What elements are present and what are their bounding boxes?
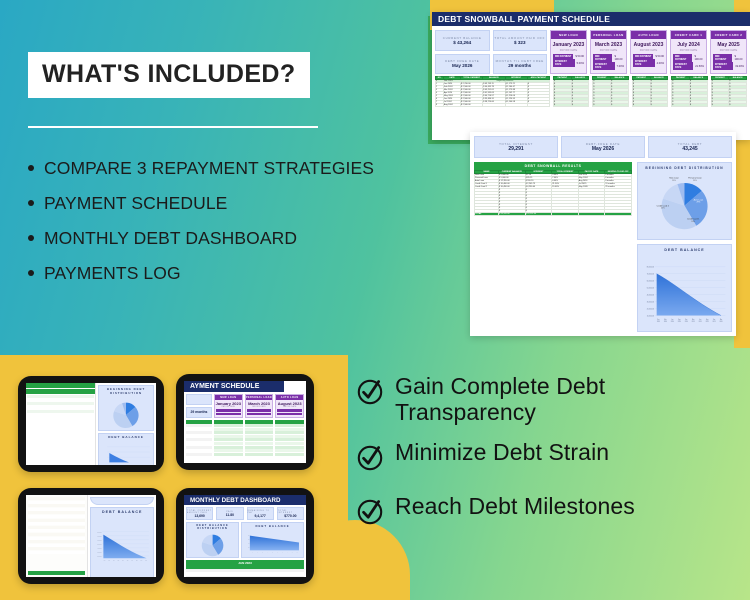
bullet-icon [28,235,34,241]
list-item [214,428,243,431]
list-item [186,453,212,456]
interest-rate-value: 4.00% [657,62,664,65]
kpi-card: REMAINING TO PAY 9,4,177 [247,507,274,520]
list-item [245,435,274,438]
kpi-card [186,394,212,405]
kpi-value: 9,4,177 [254,514,265,518]
svg-text:2024: 2024 [671,321,674,323]
kpi-card: CURRENT BALANCE $ 43,264 [435,30,490,51]
svg-text:O: O [297,552,298,554]
svg-text:20,000.00: 20,000.00 [647,308,654,310]
table-row: $$ [554,104,589,107]
min-payment-value: $ 100.00 [734,55,744,61]
list-item [245,431,274,434]
loan-sub-label: PAYOFF DATE [276,406,303,408]
sheet-title: MONTHLY DEBT DASHBOARD [184,495,306,505]
list-item [245,442,274,445]
cell-addl-payment [527,104,549,107]
cell-total-payment: $ 2,500.00 [461,104,483,107]
svg-text:Dec: Dec [685,319,688,321]
benefit-label: Reach Debt Milestones [395,494,635,520]
check-circle-icon [356,377,384,410]
svg-text:Mar: Mar [109,560,111,562]
kpi-value: 13,690 [194,514,204,518]
loan-interest-row: INTEREST RATE19.00% [711,62,746,70]
loan-interest-row: INTEREST RATE21.50% [671,62,706,70]
payment-schedule-sheet: DEBT SNOWBALL PAYMENT SCHEDULE CURRENT B… [432,12,750,140]
kpi-grid: CURRENT BALANCE $ 43,264 TOTAL AMOUNT PA… [435,30,547,74]
tablet-dashboard-top-left: BEGINNING DEBT DISTRIBUTION DEBT BALANCE [18,376,164,472]
loan-payoff-month: January 2023 [551,42,586,48]
svg-text:Sep: Sep [136,560,138,562]
list-item [214,446,243,449]
debt-balance-chart-title: DEBT BALANCE [641,248,728,252]
loan-name: PERSONAL LOAN [246,395,273,400]
svg-text:2025: 2025 [713,321,716,323]
svg-text:20k: 20k [248,547,250,549]
svg-text:Mar: Mar [127,560,129,562]
loan-payoff-month: March 2023 [591,42,626,48]
cell-balance: $ [650,104,668,107]
check-circle-icon [356,497,384,530]
svg-text:M: M [262,552,263,554]
loan-name: PERSONAL LOAN [591,31,626,39]
svg-text:Jun: Jun [671,319,673,321]
benefit-item: Gain Complete Debt Transparency [356,374,748,426]
feature-label: COMPARE 3 REPAYMENT STRATEGIES [44,158,374,178]
table-row: 8Aug 2024$ 2,500.00 [436,104,550,107]
benefit-item: Minimize Debt Strain [356,440,748,476]
loan-name: CREDIT CARD 1 [671,31,706,39]
interest-rate-value: 19.00% [735,65,744,68]
kpi-card: PAID 11.80 [216,507,243,520]
loan-sub-label: PAYOFF DATE [215,406,242,408]
list-item [28,515,85,518]
bullet-icon [28,165,34,171]
cell-payment: $ [593,104,611,107]
loan-name: NEW LOAN [551,31,586,39]
svg-text:2025: 2025 [699,321,702,323]
list-item [275,431,304,434]
svg-text:2026: 2026 [720,321,723,323]
table-row: $$ [711,104,746,107]
svg-text:29%: 29% [697,202,701,204]
cell-no: 8 [436,104,444,107]
svg-text:2024: 2024 [664,321,667,323]
svg-text:Sep: Sep [118,560,120,562]
loan-card: CREDIT CARD 1 July 2024 PAYOFF DATE MIN … [670,30,707,74]
list-item [186,573,304,576]
loan-payment-table: PAYMENTBALANCE$$$$$$$$$$$$$$$$$$ [592,76,628,107]
loan-name: AUTO LOAN [276,395,303,400]
list-item [186,428,212,431]
kpi-card: DEBT FREE DATE May 2026 [435,54,490,75]
list-item [245,446,274,449]
benefit-label: Gain Complete Debt Transparency [395,374,748,426]
svg-text:70,000.00: 70,000.00 [98,535,103,537]
cell-payment: $ [632,104,650,107]
benefits-section: Gain Complete Debt Transparency Minimize… [356,374,748,544]
svg-text:2023: 2023 [657,321,660,323]
svg-text:80k: 80k [248,535,250,537]
loan-card: AUTO LOAN August 2023 PAYOFF DATE MIN PA… [630,30,667,74]
cell-total-label: TOTAL [475,213,499,216]
svg-text:Jun: Jun [132,560,134,562]
list-item: PAYMENT SCHEDULE [28,193,378,213]
feature-list: COMPARE 3 REPAYMENT STRATEGIES PAYMENT S… [28,158,378,284]
interest-rate-label: INTEREST RATE [713,62,733,70]
list-item [245,428,274,431]
list-item [275,424,304,427]
svg-text:60,000.00: 60,000.00 [98,539,103,541]
svg-text:50,000.00: 50,000.00 [98,543,103,545]
kpi-card: TOTAL INTEREST 29,291 [474,136,558,158]
pie-chart-title: BEGINNING DEBT DISTRIBUTION [100,387,152,395]
cell-balance [483,104,505,107]
list-item [245,453,274,456]
interest-rate-value: 5.00% [577,62,584,65]
kpi-card: TOTAL AMOUNT PAID OFF $ 323 [493,30,548,51]
svg-text:20,000.00: 20,000.00 [98,556,103,558]
list-item [28,526,85,529]
loan-payment-table: PAYMENTBALANCE$$$$$$$$$$$$$$$$$$ [711,76,747,107]
svg-text:A: A [267,551,268,554]
results-table: NAME CURRENT BALANCE INTEREST TOTAL INTE… [474,170,632,216]
kpi-card: 29 months [186,407,212,418]
svg-text:J: J [253,552,254,554]
kpi-value: 29 months [508,63,531,68]
loan-name: AUTO LOAN [631,31,666,39]
loan-card: PERSONAL LOAN March 2023 PAYOFF DATE MIN… [590,30,627,74]
schedule-table: NO. DATE TOTAL PAYMENT BALANCE INTEREST … [435,76,550,107]
loan-name: CREDIT CARD 2 [711,31,746,39]
loan-payoff-month: July 2024 [671,42,706,48]
kpi-card: TOTAL CURRENT AMOUNT PAID 13,690 [186,507,213,520]
loan-sub-label: PAYOFF DATE [591,49,626,52]
cell-balance: $ [611,104,629,107]
svg-text:60k: 60k [248,539,250,541]
list-item: MONTHLY DEBT DASHBOARD [28,228,378,248]
bullet-icon [28,270,34,276]
kpi-card: MONTHS TIL DEBT FREE 29 months [493,54,548,75]
debt-balance-chart-card: DEBT BALANCE 80,000.00 [90,507,154,577]
list-item [214,438,243,441]
pie-chart-card: DEBT BALANCE DISTRIBUTION [186,522,239,558]
kpi-value: 29 months [190,410,207,414]
pie-chart-card: BEGINNING DEBT DISTRIBUTION New Loan 11%… [637,162,732,240]
sheet-title: DEBT SNOWBALL PAYMENT SCHEDULE [432,12,750,26]
svg-text:70,000.00: 70,000.00 [647,274,654,276]
list-item [214,442,243,445]
svg-text:Dec: Dec [713,319,716,321]
list-item [275,438,304,441]
list-item [28,544,85,547]
kpi-value: 11.80 [226,513,234,517]
list-item [186,569,304,572]
svg-text:S: S [292,552,293,554]
loan-name: NEW LOAN [215,395,242,400]
svg-text:A: A [287,551,288,554]
svg-text:10,000.00: 10,000.00 [647,315,654,317]
svg-text:30,000.00: 30,000.00 [98,551,103,553]
min-payment-value: $ 100.00 [614,55,624,61]
loan-payment-table: PAYMENTBALANCE$$$$$$$$$$$$$$$$$$ [553,76,589,107]
tablet-payment-schedule: AYMENT SCHEDULE 29 months NEW LOAN Janua… [176,374,314,470]
loan-card: AUTO LOAN August 2023 PAYOFF DATE [275,394,304,418]
debt-dashboard-sheet: TOTAL INTEREST 29,291 DEBT-FREE DATE May… [470,132,736,336]
page-title: WHAT'S INCLUDED? [28,52,310,98]
list-item [186,442,212,445]
list-item: COMPARE 3 REPAYMENT STRATEGIES [28,158,378,178]
interest-rate-value: 7.00% [617,65,624,68]
bullet-icon [28,200,34,206]
cell-interest [505,104,527,107]
feature-label: MONTHLY DEBT DASHBOARD [44,228,297,248]
list-item [186,435,212,438]
list-item [28,533,85,536]
svg-text:Dec: Dec [123,560,125,562]
list-item [28,529,85,532]
beginning-debt-distribution-pie [100,395,152,433]
svg-text:Sep: Sep [678,319,681,321]
svg-text:F: F [258,552,259,554]
cell-date: Aug 2024 [444,104,461,107]
loan-min-payment-row: MIN PAYMENT$ 100.00 [671,54,706,62]
min-payment-value: $ 100.00 [694,55,704,61]
svg-text:2025: 2025 [692,321,695,323]
loan-interest-row: INTEREST RATE5.00% [551,59,586,67]
debt-balance-area-chart: 80,000.0070,000.00 60,000.0050,000.00 40… [641,254,728,330]
svg-text:Mar: Mar [146,560,148,562]
svg-text:J: J [277,552,278,554]
svg-text:2024: 2024 [678,321,681,323]
svg-text:Dec: Dec [104,560,106,562]
list-item: PAYMENTS LOG [28,263,378,283]
loan-sub-label: PAYOFF DATE [671,49,706,52]
results-table-title: DEBT SNOWBALL RESULTS [474,162,632,170]
svg-text:J: J [282,552,283,554]
tablet-debt-balance: DEBT BALANCE 80,000.00 [18,488,164,584]
list-item [28,504,85,507]
kpi-card: TOTAL DEBT 43,245 [648,136,732,158]
list-item [214,449,243,452]
kpi-value: May 2026 [452,63,472,68]
loan-interest-row: INTEREST RATE7.00% [591,62,626,70]
beginning-debt-distribution-pie: New Loan 11% Personal Loan 11% Auto Loan… [641,170,728,236]
feature-label: PAYMENTS LOG [44,263,181,283]
list-item [275,435,304,438]
list-item [275,453,304,456]
divider [28,126,318,128]
list-item [186,449,212,452]
svg-text:Jun: Jun [699,319,701,321]
list-item [28,547,85,550]
check-circle-icon [356,443,384,476]
loan-card: NEW LOAN January 2023 PAYOFF DATE [214,394,243,418]
kpi-value: $770.00 [284,514,296,518]
list-item [186,576,304,577]
list-item [186,446,212,449]
cell-total-balance: $ 43,245.00 [499,213,526,216]
svg-text:Dec: Dec [141,560,143,562]
list-item [186,438,212,441]
interest-rate-label: INTEREST RATE [633,59,655,67]
list-item [245,424,274,427]
loan-sub-label: PAYOFF DATE [246,406,273,408]
whats-included-section: WHAT'S INCLUDED? COMPARE 3 REPAYMENT STR… [28,52,378,299]
loan-payoff-month: May 2025 [711,42,746,48]
cell-payment: $ [554,104,572,107]
loan-payoff-month: August 2023 [631,42,666,48]
monthly-kpi-grid: TOTAL CURRENT AMOUNT PAID 13,690 PAID 11… [186,507,304,520]
svg-text:25%: 25% [661,208,665,210]
svg-text:24%: 24% [691,221,695,223]
min-payment-label: MIN PAYMENT [593,54,612,62]
interest-rate-label: INTEREST RATE [593,62,615,70]
tablet-monthly-dashboard: MONTHLY DEBT DASHBOARD TOTAL CURRENT AMO… [176,488,314,584]
bar-chart-card: DEBT BALANCE 80k60k40k20k JFMA MJJA SO [241,522,304,558]
list-item [245,438,274,441]
loan-sub-label: PAYOFF DATE [551,49,586,52]
loan-interest-row: INTEREST RATE4.00% [631,59,666,67]
list-item [275,428,304,431]
list-item [275,446,304,449]
benefit-item: Reach Debt Milestones [356,494,748,530]
svg-text:11%: 11% [672,180,676,182]
kpi-value: $ 323 [514,40,526,45]
list-item [214,435,243,438]
debt-balance-area-chart: 80,000.0070,000.00 60,000.0050,000.00 40… [93,514,151,576]
svg-text:11%: 11% [693,180,697,182]
cell-total-interest: $ 29,291.00 [525,213,552,216]
min-payment-label: MIN PAYMENT [673,54,692,62]
min-payment-value: $ 50.00 [655,55,664,58]
list-item [275,442,304,445]
cell-balance: $ [689,104,707,107]
list-item [28,501,85,504]
cell-payment: $ [672,104,690,107]
debt-balance-bar-chart: 80k60k40k20k JFMA MJJA SO [243,528,302,557]
min-payment-value: $ 50.00 [575,55,584,58]
svg-text:80,000.00: 80,000.00 [647,267,654,269]
list-item [28,519,85,522]
sheet-title: AYMENT SCHEDULE [184,381,284,392]
list-item [28,497,85,500]
list-item [28,551,85,554]
list-item [275,449,304,452]
svg-text:Mar: Mar [692,318,695,321]
loan-card: PERSONAL LOAN March 2023 PAYOFF DATE [245,394,274,418]
svg-text:2024: 2024 [685,321,688,323]
debt-balance-chart-card: DEBT BALANCE 80,000.0070,000.00 [637,244,732,332]
list-item [214,431,243,434]
feature-label: PAYMENT SCHEDULE [44,193,227,213]
table-row: $$ [632,104,667,107]
svg-text:Mar: Mar [720,318,723,321]
loan-sub-label: PAYOFF DATE [711,49,746,52]
cell-balance: $ [729,104,747,107]
loan-min-payment-row: MIN PAYMENT$ 100.00 [711,54,746,62]
svg-text:80,000.00: 80,000.00 [98,531,103,533]
svg-text:2025: 2025 [706,321,709,323]
list-item [186,424,212,427]
loan-card: NEW LOAN January 2023 PAYOFF DATE MIN PA… [550,30,587,74]
svg-text:40,000.00: 40,000.00 [98,547,103,549]
cell-payment: $ [711,104,729,107]
pie-chart-card-partial [90,497,154,505]
debt-balance-distribution-pie [188,530,237,559]
kpi-value: 29,291 [508,146,523,152]
svg-text:30,000.00: 30,000.00 [647,301,654,303]
list-item [186,431,212,434]
svg-text:60,000.00: 60,000.00 [647,281,654,283]
list-item [245,449,274,452]
svg-text:50,000.00: 50,000.00 [647,288,654,290]
benefit-label: Minimize Debt Strain [395,440,609,466]
svg-text:40k: 40k [248,543,250,545]
interest-rate-label: INTEREST RATE [673,62,693,70]
table-row: $$ [593,104,628,107]
list-item [28,540,85,543]
svg-text:40,000.00: 40,000.00 [647,294,654,296]
table-row: $$ [672,104,707,107]
list-item [214,453,243,456]
interest-rate-value: 21.50% [695,65,704,68]
svg-text:Dec: Dec [657,319,660,321]
list-item [28,508,85,511]
kpi-value: May 2026 [592,146,614,152]
list-item [28,511,85,514]
svg-text:Jun: Jun [113,560,115,562]
list-item [28,537,85,540]
kpi-card: DEBT-FREE DATE May 2026 [561,136,645,158]
pie-chart-card: BEGINNING DEBT DISTRIBUTION [98,385,154,431]
kpi-card: TOTAL INTEREST $770.00 [277,507,304,520]
svg-text:M: M [272,552,273,554]
loan-payment-table: PAYMENTBALANCE$$$$$$$$$$$$$$$$$$ [632,76,668,107]
loan-sub-label: PAYOFF DATE [631,49,666,52]
svg-text:Sep: Sep [706,319,709,321]
interest-rate-label: INTEREST RATE [553,59,575,67]
kpi-value: $ 43,264 [453,40,471,45]
svg-text:Mar: Mar [664,318,667,321]
cell-balance: $ [571,104,589,107]
list-item [28,522,85,525]
min-payment-label: MIN PAYMENT [713,54,732,62]
table-total-row: TOTAL$ 43,245.00$ 29,291.00 [475,213,632,216]
loan-min-payment-row: MIN PAYMENT$ 100.00 [591,54,626,62]
loan-payment-table: PAYMENTBALANCE$$$$$$$$$$$$$$$$$$ [671,76,707,107]
loan-card: CREDIT CARD 2 May 2025 PAYOFF DATE MIN P… [710,30,747,74]
kpi-value: 43,245 [682,146,697,152]
dashboard-kpi-grid: TOTAL INTEREST 29,291 DEBT-FREE DATE May… [474,136,732,158]
list-item [214,424,243,427]
